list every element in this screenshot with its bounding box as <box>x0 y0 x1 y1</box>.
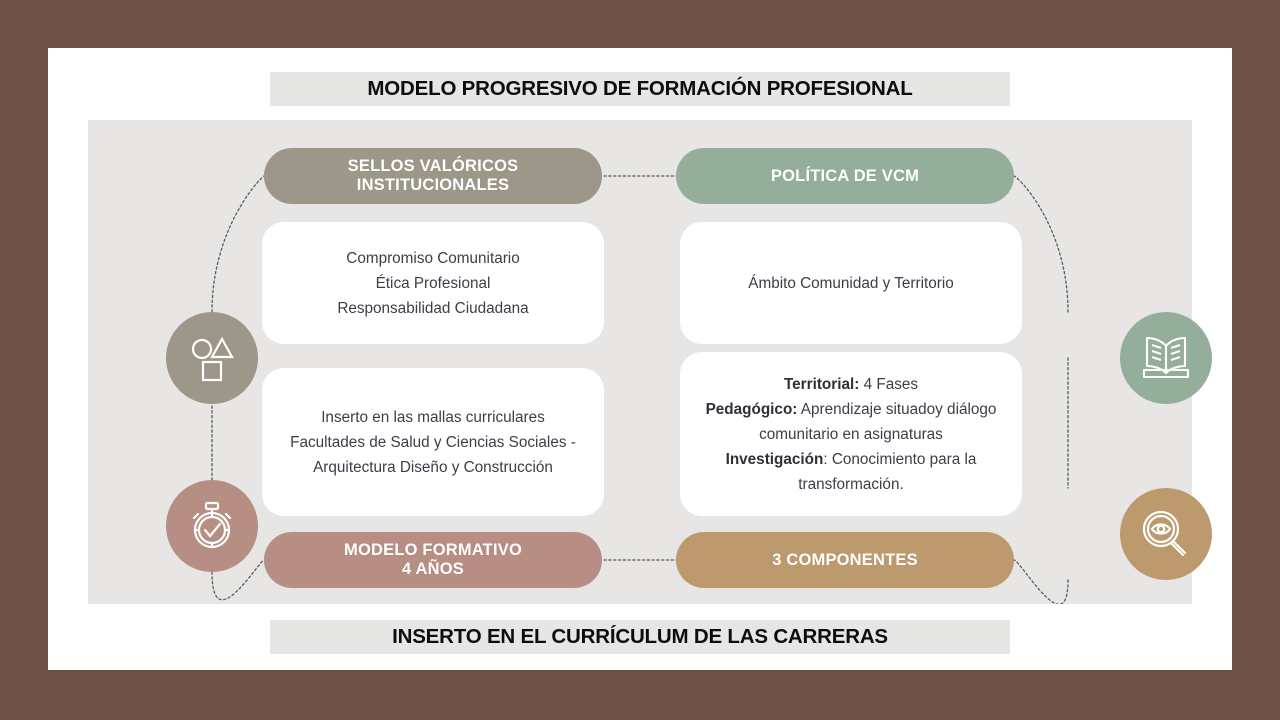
slide-canvas: MODELO PROGRESIVO DE FORMACIÓN PROFESION… <box>48 48 1232 670</box>
card-modelo-line2: Facultades de Salud y Ciencias Sociales … <box>290 430 576 455</box>
card-sellos-line1: Compromiso Comunitario <box>337 246 528 271</box>
card-sellos-line2: Ética Profesional <box>337 271 528 296</box>
pill-modelo-formativo[interactable]: MODELO FORMATIVO 4 AÑOS <box>264 532 602 588</box>
card-3-componentes: Territorial: 4 FasesPedagógico: Aprendiz… <box>680 352 1022 516</box>
pill-modelo-line2: 4 AÑOS <box>402 560 464 579</box>
card-componentes-line: transformación. <box>706 472 997 497</box>
pill-sellos-line2: INSTITUCIONALES <box>357 176 509 195</box>
card-componentes-label: Investigación <box>726 451 824 468</box>
connector-bottomright-curve <box>1014 560 1068 604</box>
pill-politica-vcm[interactable]: POLÍTICA DE VCM <box>676 148 1014 204</box>
pill-3-componentes[interactable]: 3 COMPONENTES <box>676 532 1014 588</box>
stopwatch-check-icon <box>166 480 258 572</box>
connector-topleft-curve <box>212 176 264 312</box>
card-componentes-line: Investigación: Conocimiento para la <box>706 447 997 472</box>
pill-componentes-line1: 3 COMPONENTES <box>772 551 918 570</box>
card-componentes-label: Pedagógico: <box>706 401 798 418</box>
pill-modelo-line1: MODELO FORMATIVO <box>344 541 522 560</box>
magnifier-eye-icon <box>1120 488 1212 580</box>
card-politica-vcm: Ámbito Comunidad y Territorio <box>680 222 1022 344</box>
card-componentes-line: Territorial: 4 Fases <box>706 372 997 397</box>
card-componentes-label: Territorial: <box>784 376 859 393</box>
connector-topright-curve <box>1014 176 1068 312</box>
title-banner-text: MODELO PROGRESIVO DE FORMACIÓN PROFESION… <box>367 77 912 101</box>
card-componentes-line: Pedagógico: Aprendizaje situadoy diálogo <box>706 397 997 422</box>
pill-sellos-line1: SELLOS VALÓRICOS <box>348 157 519 176</box>
footer-banner-text: INSERTO EN EL CURRÍCULUM DE LAS CARRERAS <box>392 625 888 649</box>
card-modelo-line1: Inserto en las mallas curriculares <box>290 405 576 430</box>
title-banner: MODELO PROGRESIVO DE FORMACIÓN PROFESION… <box>270 72 1010 106</box>
footer-banner: INSERTO EN EL CURRÍCULUM DE LAS CARRERAS <box>270 620 1010 654</box>
pill-sellos-valoricos[interactable]: SELLOS VALÓRICOS INSTITUCIONALES <box>264 148 602 204</box>
shapes-icon <box>166 312 258 404</box>
card-politica-line1: Ámbito Comunidad y Territorio <box>748 271 953 296</box>
card-sellos-line3: Responsabilidad Ciudadana <box>337 296 528 321</box>
open-book-icon <box>1120 312 1212 404</box>
card-sellos-valoricos: Compromiso Comunitario Ética Profesional… <box>262 222 604 344</box>
card-modelo-line3: Arquitectura Diseño y Construcción <box>290 455 576 480</box>
pill-politica-line1: POLÍTICA DE VCM <box>771 167 919 186</box>
diagram-panel: SELLOS VALÓRICOS INSTITUCIONALES POLÍTIC… <box>88 120 1192 604</box>
card-componentes-body: Territorial: 4 FasesPedagógico: Aprendiz… <box>706 372 997 497</box>
card-modelo-formativo: Inserto en las mallas curriculares Facul… <box>262 368 604 516</box>
card-componentes-line: comunitario en asignaturas <box>706 422 997 447</box>
